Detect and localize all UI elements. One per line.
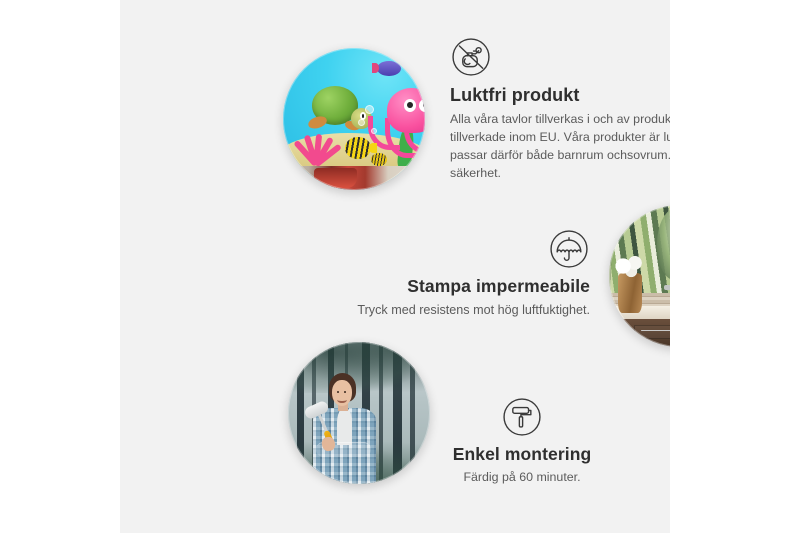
- paint-roller-icon: [372, 396, 670, 438]
- feature-heading: Luktfri produkt: [450, 85, 670, 107]
- vanity-drawer: [634, 325, 670, 338]
- octopus-eye: [404, 99, 417, 112]
- no-odour-spray-bottle-icon: [450, 36, 670, 78]
- eye: [344, 391, 346, 393]
- feature-waterproof-print: Stampa impermeabile Tryck med resistens …: [308, 228, 590, 319]
- umbrella-icon: [308, 228, 590, 270]
- turtle-flipper: [307, 115, 328, 131]
- face: [332, 380, 353, 407]
- feature-heading: Enkel montering: [372, 444, 670, 465]
- screenshot-stage: Luktfri produkt Alla våra tavlor tillver…: [0, 0, 800, 533]
- photo-content: [609, 205, 670, 347]
- white-flowers: [612, 253, 649, 279]
- bathroom-tropical-wallpaper-photo: [609, 205, 670, 347]
- bubble: [371, 128, 377, 134]
- underwater-kids-mural-photo: [283, 48, 425, 190]
- wooden-vanity: [623, 319, 670, 347]
- octopus: [371, 88, 425, 150]
- room-strip: [283, 166, 425, 190]
- striped-fish: [345, 137, 371, 158]
- blue-fish: [377, 61, 401, 77]
- feature-body: Alla våra tavlor tillverkas i och av pro…: [450, 111, 670, 183]
- roller-drum: [303, 400, 330, 421]
- feature-panel: Luktfri produkt Alla våra tavlor tillver…: [120, 0, 670, 533]
- photo-content: [283, 48, 425, 190]
- octopus-head: [387, 88, 425, 133]
- feature-heading: Stampa impermeabile: [308, 276, 590, 297]
- feature-odourless: Luktfri produkt Alla våra tavlor tillver…: [450, 36, 670, 183]
- sea-turtle: [307, 86, 369, 134]
- feature-body: Tryck med resistens mot hög luftfuktighe…: [308, 301, 590, 319]
- feature-easy-installation: Enkel montering Färdig på 60 minuter.: [372, 396, 670, 487]
- smile: [337, 396, 347, 402]
- small-fish: [371, 153, 387, 166]
- octopus-eye: [419, 99, 425, 112]
- gold-vase: [618, 273, 642, 313]
- eye: [337, 391, 339, 393]
- feature-body: Färdig på 60 minuter.: [372, 469, 670, 487]
